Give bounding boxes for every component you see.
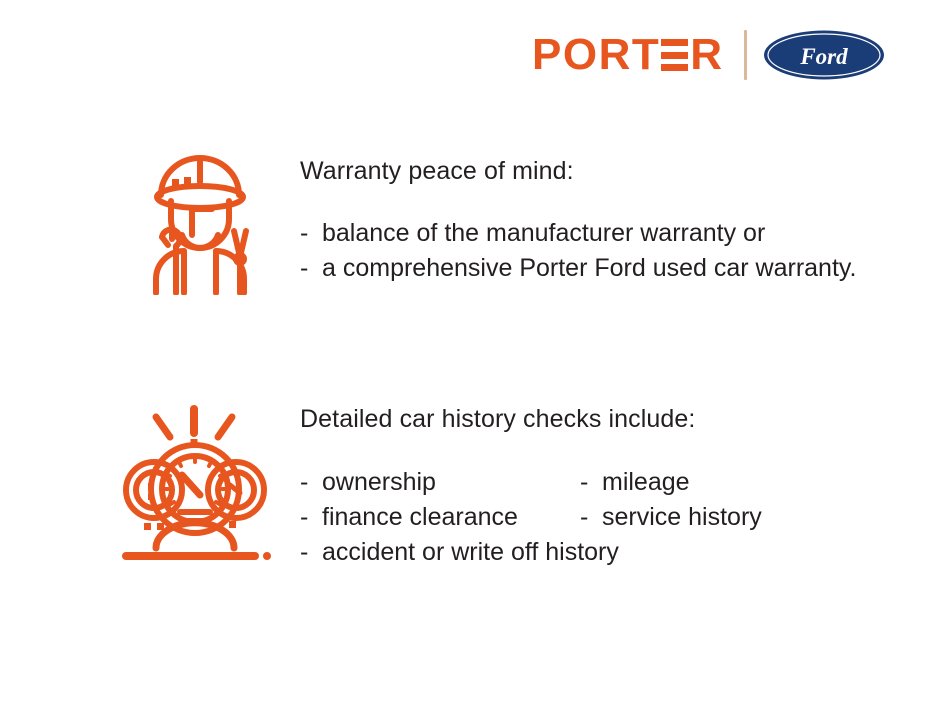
porter-letter-e-stylised (661, 39, 688, 71)
list-item: - a comprehensive Porter Ford used car w… (300, 253, 914, 283)
list-item: - accident or write off history (300, 537, 912, 572)
bullet-label: ownership (322, 467, 436, 497)
history-text-group: Detailed car history checks include: - o… (277, 395, 912, 572)
history-item-left: - ownership (300, 467, 580, 497)
porter-e-bar-bottom (661, 64, 688, 71)
porter-e-bar-top (661, 39, 688, 46)
bullet-label: finance clearance (322, 502, 518, 532)
brand-logo-lockup: P O R T R Ford (532, 22, 892, 88)
slide-canvas: P O R T R Ford (0, 0, 938, 704)
bullet-dash: - (300, 502, 322, 532)
bullet-dash: - (580, 467, 602, 497)
list-item: - finance clearance - service history (300, 502, 912, 537)
bullet-label: a comprehensive Porter Ford used car war… (322, 253, 857, 283)
porter-letter-o: O (563, 33, 599, 77)
bullet-dash: - (300, 253, 322, 283)
bullet-label: accident or write off history (322, 537, 619, 567)
bullet-label: mileage (602, 467, 690, 497)
history-item-left: - finance clearance (300, 502, 580, 532)
bullet-label: service history (602, 502, 762, 532)
porter-e-bar-middle (661, 52, 688, 59)
ford-oval-logo: Ford (763, 29, 885, 81)
brand-divider (744, 30, 747, 80)
porter-letter-r: R (599, 33, 632, 77)
list-item: - balance of the manufacturer warranty o… (300, 218, 914, 248)
warranty-bullet-list: - balance of the manufacturer warranty o… (300, 218, 914, 283)
warranty-heading: Warranty peace of mind: (300, 157, 914, 186)
porter-wordmark: P O R T R (532, 33, 724, 77)
porter-letter-r2: R (690, 33, 723, 77)
bullet-label: balance of the manufacturer warranty or (322, 218, 765, 248)
ford-script-text: Ford (799, 44, 848, 69)
history-item-right: - service history (580, 502, 762, 532)
porter-letter-p: P (532, 33, 563, 77)
porter-letter-t: T (632, 33, 660, 77)
warranty-text-group: Warranty peace of mind: - balance of the… (276, 143, 914, 288)
history-heading: Detailed car history checks include: (300, 405, 912, 434)
bullet-dash: - (300, 467, 322, 497)
bullet-dash: - (580, 502, 602, 532)
list-item: - ownership - mileage (300, 467, 912, 502)
bullet-dash: - (300, 537, 322, 567)
mechanic-with-tools-icon (124, 143, 276, 295)
bullet-dash: - (300, 218, 322, 248)
history-bullet-list: - ownership - mileage - finance clearanc… (300, 467, 912, 572)
warranty-block: Warranty peace of mind: - balance of the… (124, 143, 914, 295)
history-block: Detailed car history checks include: - o… (112, 395, 912, 572)
history-item-right: - mileage (580, 467, 690, 497)
dashboard-gauges-icon (112, 395, 277, 570)
history-item-left: - accident or write off history (300, 537, 619, 567)
